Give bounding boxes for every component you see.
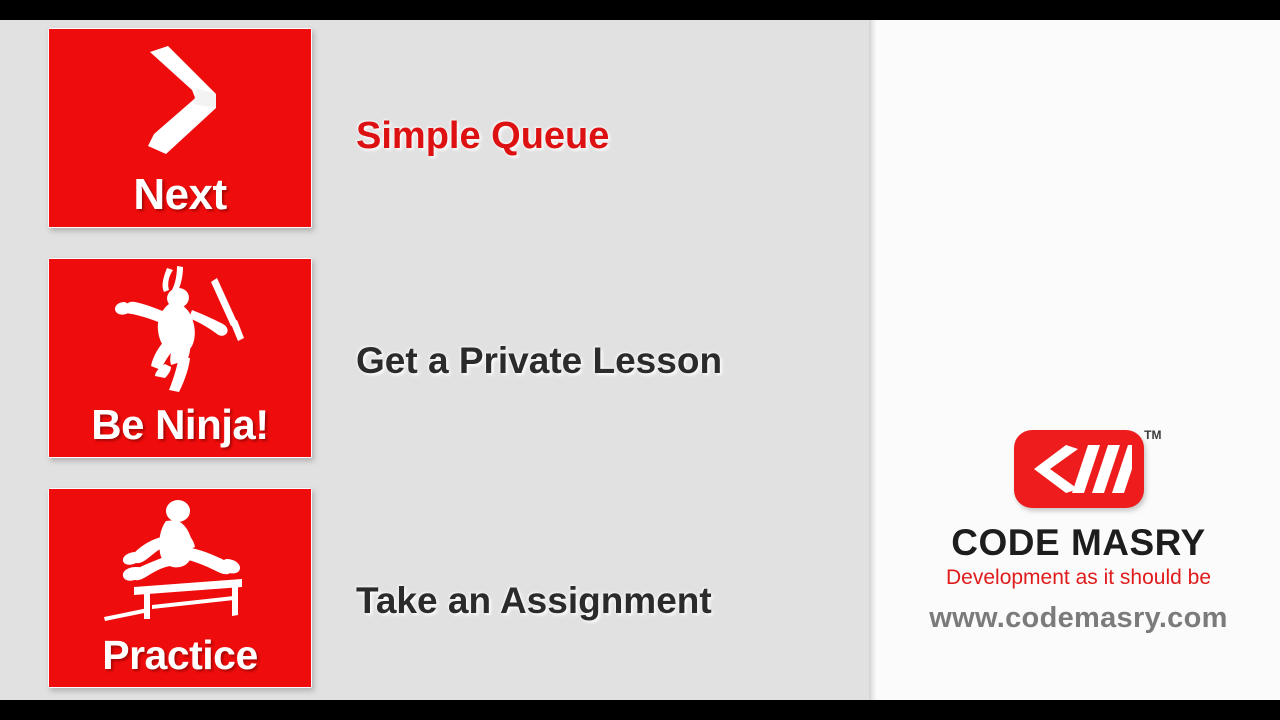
chevron-right-arrow-icon [49, 35, 311, 160]
brand-url[interactable]: www.codemasry.com [877, 602, 1280, 635]
tile-next-label: Next [49, 169, 311, 221]
tile-be-ninja[interactable]: Be Ninja! [48, 258, 312, 458]
tile-description-lines: Simple Queue Get a Private Lesson Take a… [356, 20, 856, 700]
tile-practice[interactable]: Practice [48, 488, 312, 688]
brand-mark-wrap: TM [1014, 430, 1144, 508]
brand-tagline: Development as it should be [877, 566, 1280, 590]
trademark-icon: TM [1144, 428, 1161, 442]
letterbox-bar-bottom [0, 700, 1280, 720]
letterbox-bar-top [0, 0, 1280, 20]
ninja-warrior-icon [49, 265, 311, 390]
panel-divider [869, 20, 877, 700]
brand-block: TM CODE MASRY Development as it should b… [877, 430, 1280, 635]
tile-next[interactable]: Next [48, 28, 312, 228]
line-next-topic: Simple Queue [356, 115, 609, 158]
hurdle-jumper-icon [49, 495, 311, 620]
tile-practice-label: Practice [49, 629, 311, 681]
code-masry-logo-icon [1014, 430, 1144, 508]
line-assignment: Take an Assignment [356, 580, 712, 622]
brand-name: CODE MASRY [877, 522, 1280, 564]
line-private-lesson: Get a Private Lesson [356, 340, 722, 382]
tile-be-ninja-label: Be Ninja! [49, 399, 311, 451]
action-tiles-column: Next [48, 28, 314, 688]
slide-canvas: Next [0, 0, 1280, 720]
